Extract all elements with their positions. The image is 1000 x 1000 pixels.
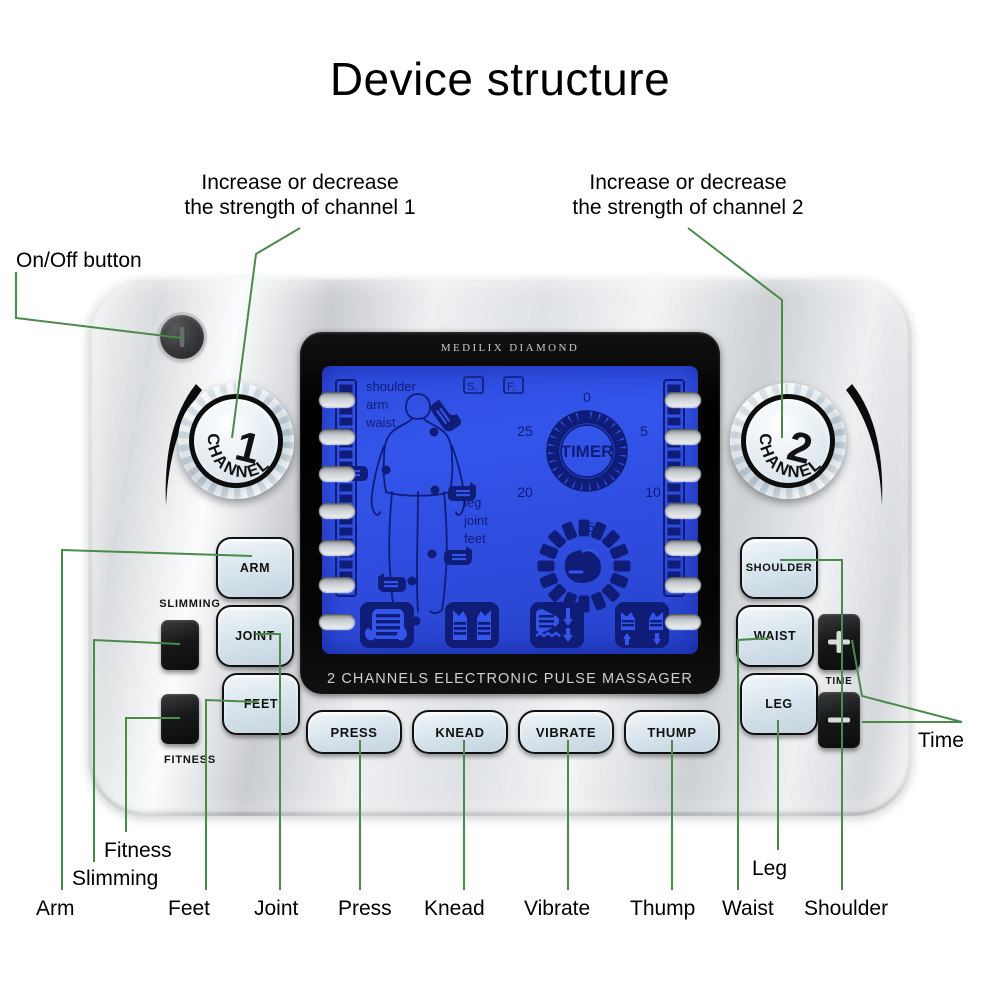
svg-text:arm: arm — [366, 397, 388, 412]
power-icon — [180, 327, 185, 348]
svg-text:feet: feet — [464, 531, 486, 546]
annotation-waist: Waist — [722, 896, 812, 921]
left-slot-4[interactable] — [319, 503, 355, 518]
right-slot-3[interactable] — [665, 466, 701, 481]
vibrate-button-label: VIBRATE — [536, 725, 596, 740]
plus-icon-v — [837, 631, 842, 653]
waist-button-label: WAIST — [754, 629, 797, 643]
time-keys-label: TIME — [812, 676, 866, 687]
annotation-channel2: Increase or decrease the strength of cha… — [548, 170, 828, 220]
arm-button[interactable]: ARM — [216, 537, 294, 599]
annotation-knead: Knead — [424, 896, 524, 921]
svg-text:waist: waist — [365, 415, 396, 430]
time-increase-button[interactable] — [818, 614, 860, 670]
left-slot-7[interactable] — [319, 614, 355, 629]
lcd-screen: shoulder arm waist leg joint feet S. F. — [322, 366, 698, 654]
annotation-leg: Leg — [752, 856, 812, 881]
device-model-line: 2 CHANNELS ELECTRONIC PULSE MASSAGER — [300, 671, 720, 687]
svg-text:25: 25 — [517, 423, 533, 439]
knead-button[interactable]: KNEAD — [412, 710, 508, 754]
leg-button[interactable]: LEG — [740, 673, 818, 735]
shoulder-button[interactable]: SHOULDER — [740, 537, 818, 599]
svg-text:TIMER: TIMER — [561, 442, 614, 461]
joint-button-label: JOINT — [235, 629, 275, 643]
annotation-time: Time — [918, 728, 998, 753]
minus-icon — [828, 718, 850, 723]
right-slot-1[interactable] — [665, 392, 701, 407]
feet-button[interactable]: FEET — [222, 673, 300, 735]
leg-button-label: LEG — [765, 697, 793, 711]
annotation-press: Press — [338, 896, 428, 921]
channel-2-knob[interactable]: CHANNEL 2 — [730, 383, 846, 499]
fitness-button[interactable] — [161, 694, 199, 744]
press-button[interactable]: PRESS — [306, 710, 402, 754]
slimming-button[interactable] — [161, 620, 199, 670]
annotation-feet: Feet — [168, 896, 258, 921]
vibrate-button[interactable]: VIBRATE — [518, 710, 614, 754]
right-slot-6[interactable] — [665, 577, 701, 592]
svg-text:S.: S. — [467, 381, 477, 393]
right-slot-group — [665, 392, 701, 651]
svg-text:joint: joint — [463, 513, 488, 528]
svg-text:5: 5 — [640, 423, 648, 439]
annotation-vibrate: Vibrate — [524, 896, 634, 921]
feet-button-label: FEET — [244, 697, 278, 711]
knob-face: CHANNEL 1 — [189, 394, 283, 488]
annotation-channel1: Increase or decrease the strength of cha… — [160, 170, 440, 220]
page-title: Device structure — [0, 52, 1000, 106]
knead-button-label: KNEAD — [435, 725, 484, 740]
right-accent-arc — [838, 380, 898, 510]
left-slot-2[interactable] — [319, 429, 355, 444]
thump-button[interactable]: THUMP — [624, 710, 720, 754]
right-slot-4[interactable] — [665, 503, 701, 518]
annotation-arm: Arm — [36, 896, 126, 921]
time-decrease-button[interactable] — [818, 692, 860, 748]
brand-name: MEDILIX DIAMOND — [300, 342, 720, 354]
lcd-bezel: MEDILIX DIAMOND — [300, 332, 720, 694]
right-slot-5[interactable] — [665, 540, 701, 555]
svg-text:0: 0 — [583, 389, 591, 405]
diagram-stage: Device structure CHANNEL — [0, 0, 1000, 1000]
lcd-graphics: shoulder arm waist leg joint feet S. F. — [322, 366, 698, 654]
right-slot-2[interactable] — [665, 429, 701, 444]
left-slot-1[interactable] — [319, 392, 355, 407]
right-slot-7[interactable] — [665, 614, 701, 629]
left-slot-6[interactable] — [319, 577, 355, 592]
annotation-joint: Joint — [254, 896, 344, 921]
left-slot-group — [319, 392, 355, 651]
annotation-fitness: Fitness — [104, 838, 244, 863]
svg-text:20: 20 — [517, 484, 533, 500]
left-slot-5[interactable] — [319, 540, 355, 555]
thump-button-label: THUMP — [647, 725, 696, 740]
shoulder-button-label: SHOULDER — [746, 562, 813, 574]
channel-1-knob[interactable]: CHANNEL 1 — [178, 383, 294, 499]
arm-button-label: ARM — [240, 561, 270, 575]
left-slot-3[interactable] — [319, 466, 355, 481]
slimming-label: SLIMMING — [150, 598, 230, 610]
fitness-label: FITNESS — [150, 754, 230, 766]
annotation-shoulder: Shoulder — [804, 896, 934, 921]
waist-button[interactable]: WAIST — [736, 605, 814, 667]
knob-face: CHANNEL 2 — [741, 394, 835, 488]
svg-text:shoulder: shoulder — [366, 379, 417, 394]
power-button[interactable] — [160, 315, 204, 359]
svg-text:F.: F. — [507, 381, 516, 393]
joint-button[interactable]: JOINT — [216, 605, 294, 667]
annotation-slimming: Slimming — [72, 866, 232, 891]
svg-text:10: 10 — [645, 484, 661, 500]
press-button-label: PRESS — [330, 725, 377, 740]
annotation-onoff: On/Off button — [16, 248, 236, 273]
